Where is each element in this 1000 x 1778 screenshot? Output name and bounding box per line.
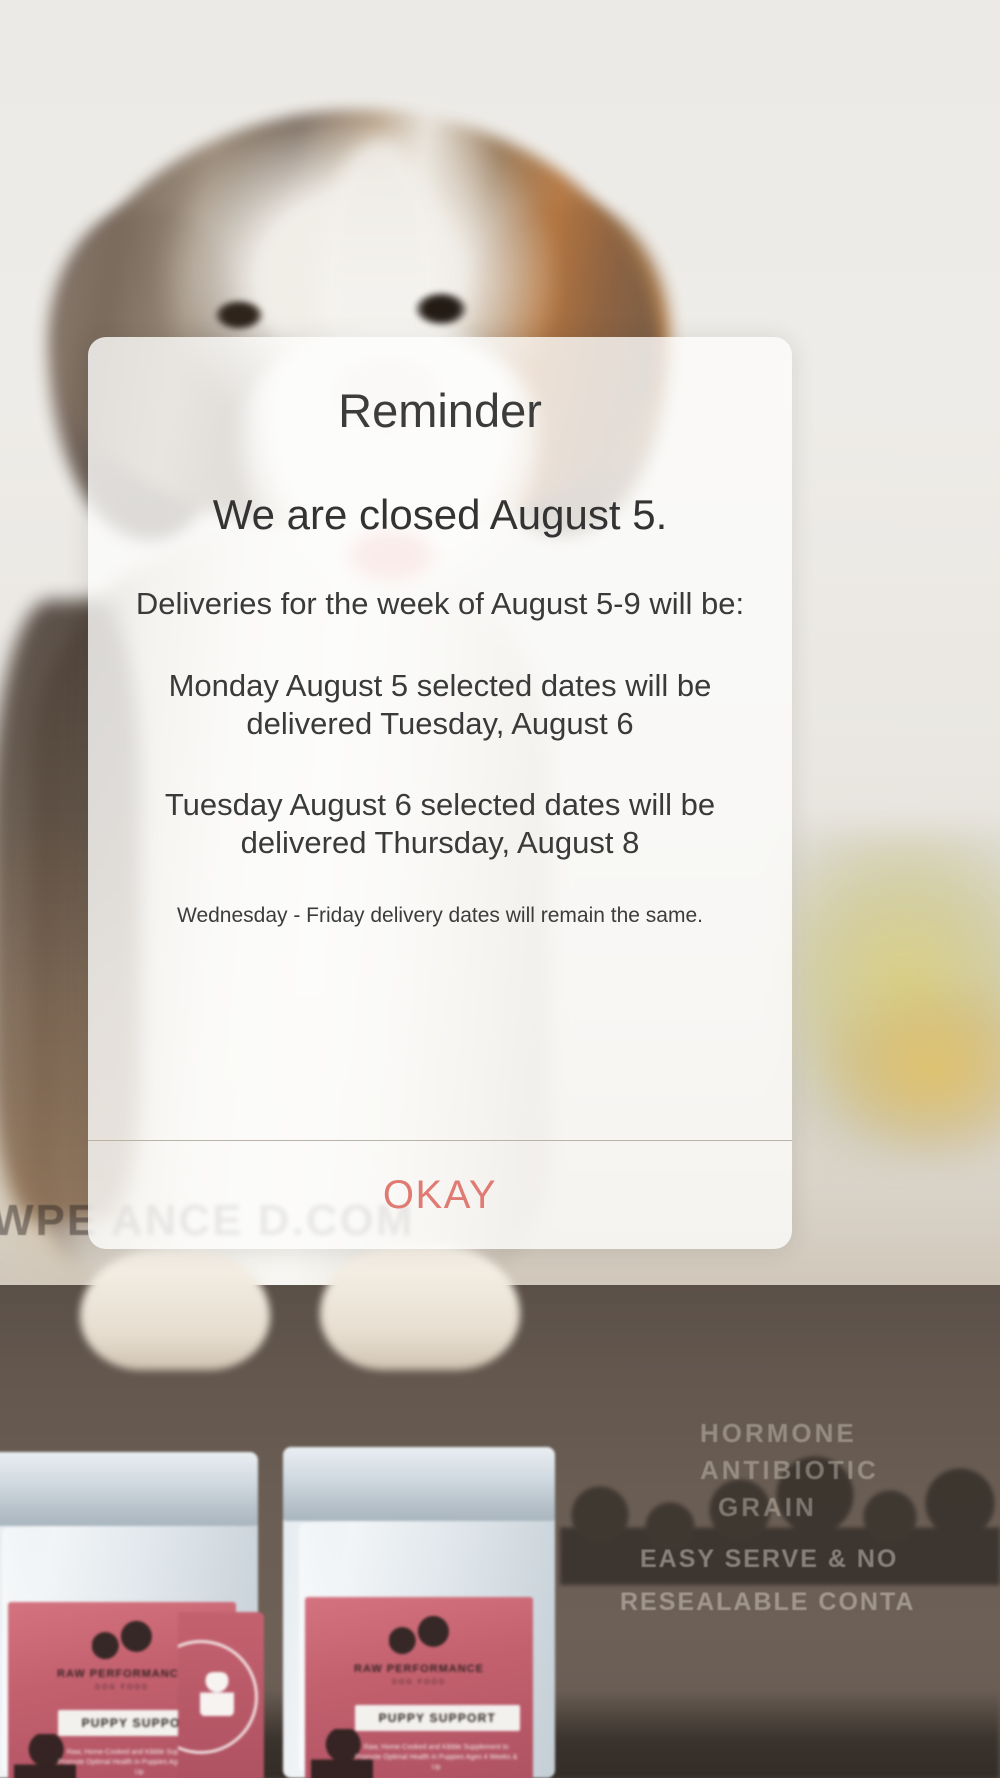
- photo-foliage-right-lower: [820, 980, 1000, 1160]
- puppy-paw-right: [320, 1245, 520, 1370]
- product-tub-1: RAW PERFORMANCE DOG FOOD PUPPY SUPPORT R…: [0, 1452, 258, 1778]
- product-tub-2: RAW PERFORMANCE DOG FOOD PUPPY SUPPORT R…: [283, 1447, 555, 1778]
- tub-description: Raw, Home-Cooked and Kibble Supplement t…: [350, 1743, 521, 1773]
- badge-dog-icon: [200, 1672, 234, 1716]
- tub-label: RAW PERFORMANCE DOG FOOD PUPPY SUPPORT R…: [305, 1597, 534, 1778]
- reminder-dialog: Reminder We are closed August 5. Deliver…: [88, 337, 792, 1249]
- dialog-title: Reminder: [118, 385, 762, 437]
- okay-button[interactable]: OKAY: [353, 1167, 527, 1223]
- dialog-note: Wednesday - Friday delivery dates will r…: [118, 902, 762, 929]
- dialog-monday-change: Monday August 5 selected dates will be d…: [118, 667, 762, 743]
- dialog-headline: We are closed August 5.: [118, 491, 762, 539]
- dialog-body: Reminder We are closed August 5. Deliver…: [88, 337, 792, 1140]
- brand-logo-icon: [92, 1618, 152, 1664]
- brand-logo-icon: [389, 1613, 449, 1659]
- board-text-antibiotic: ANTIBIOTIC: [700, 1455, 879, 1486]
- puppy-paw-left: [80, 1250, 270, 1370]
- tub-brand: RAW PERFORMANCE: [305, 1663, 534, 1675]
- dialog-actions: OKAY: [88, 1141, 792, 1249]
- board-text-hormone: HORMONE: [700, 1418, 857, 1449]
- dialog-tuesday-change: Tuesday August 6 selected dates will be …: [118, 786, 762, 862]
- tub-product-name: PUPPY SUPPORT: [355, 1705, 520, 1731]
- app-screen: WPE ANCE D.COM HORMONE ANTIBIOTIC GRAIN …: [0, 0, 1000, 1778]
- tub-lid: [283, 1447, 555, 1521]
- tub-side-badge: [178, 1612, 264, 1778]
- board-text-resealable: RESEALABLE CONTA: [620, 1588, 915, 1617]
- tub-lid: [0, 1452, 258, 1526]
- board-text-grain: GRAIN: [718, 1492, 817, 1523]
- puppy-eye-right: [415, 292, 467, 326]
- puppy-eye-left: [215, 300, 263, 330]
- board-text-easy-serve: EASY SERVE & NO: [640, 1545, 898, 1574]
- dialog-intro-text: Deliveries for the week of August 5-9 wi…: [118, 585, 762, 623]
- tub-brand-sub: DOG FOOD: [305, 1679, 534, 1686]
